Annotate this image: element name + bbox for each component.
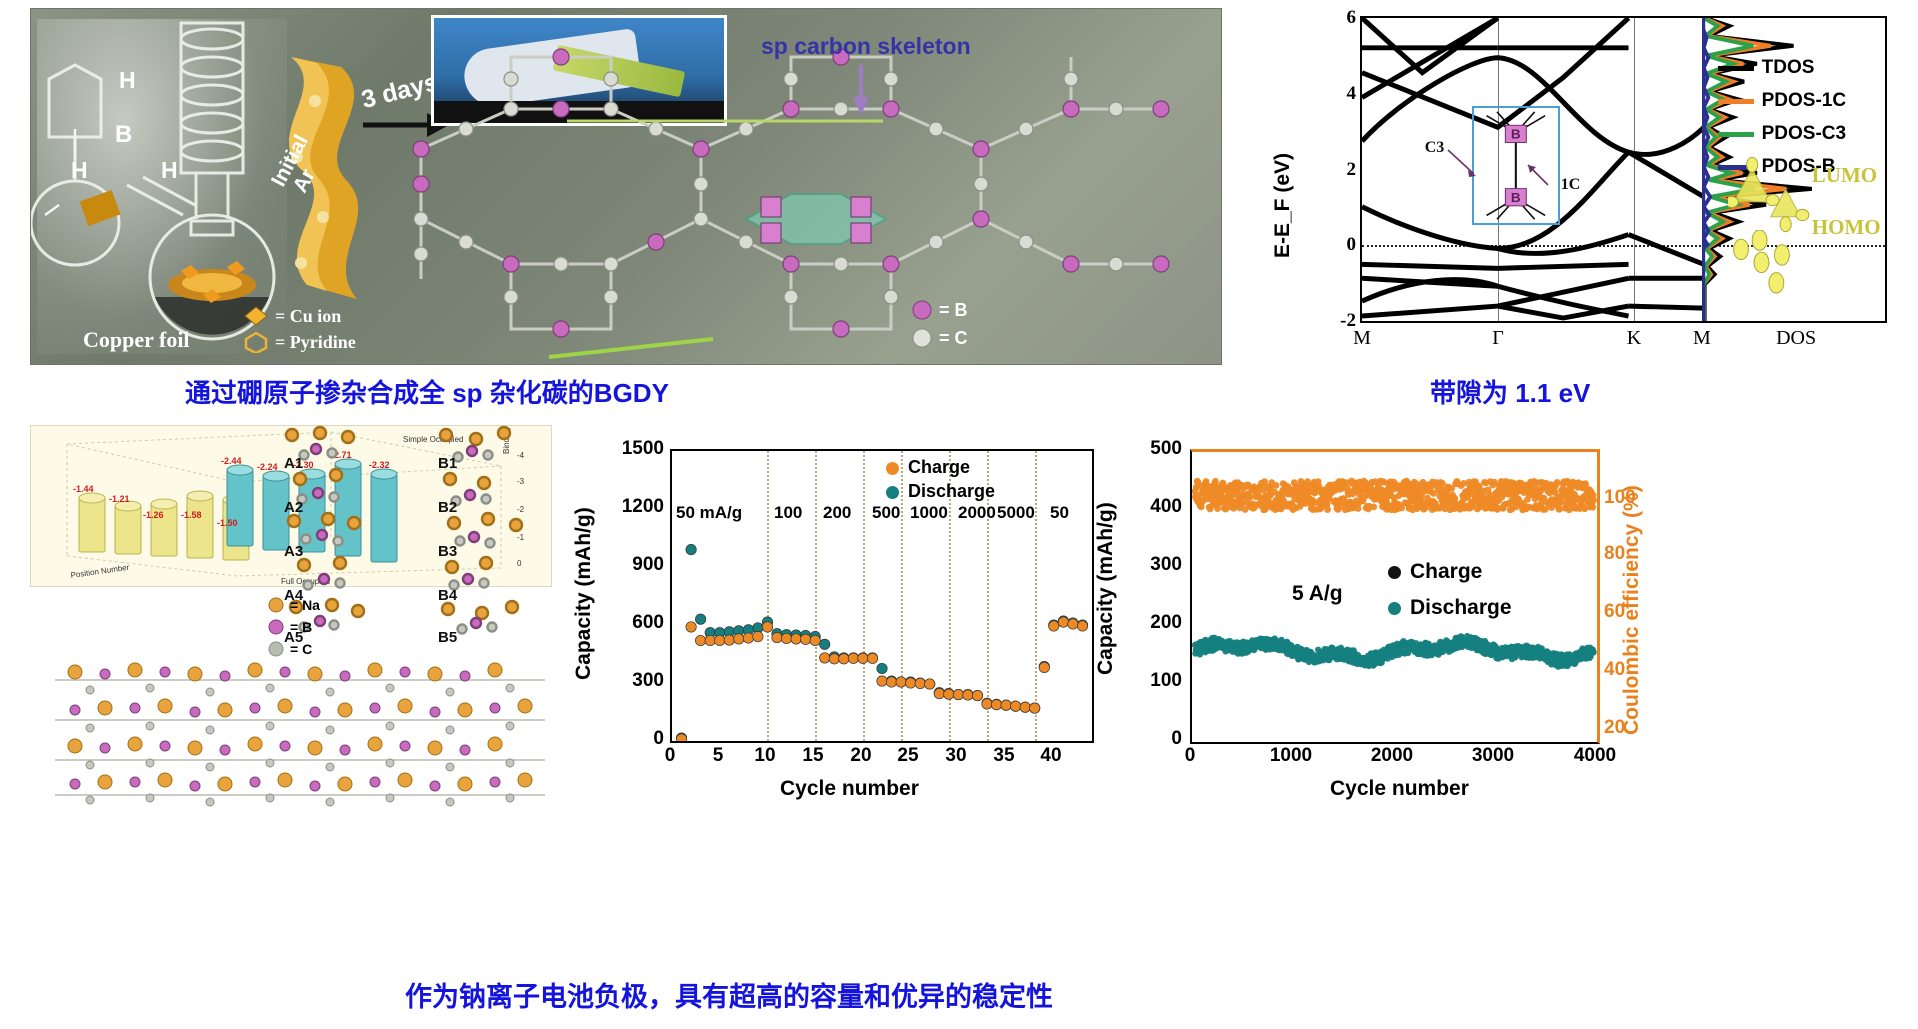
cu-ion-icon: [243, 305, 269, 327]
rate-xtick-40: 40: [1040, 745, 1061, 767]
svg-text:-1.21: -1.21: [109, 494, 130, 504]
caption-synthesis: 通过硼原子掺杂合成全 sp 杂化碳的BGDY: [185, 373, 669, 410]
rate-xtick-20: 20: [850, 745, 871, 767]
1c-arrow-icon: [1524, 163, 1566, 193]
structure-label-b4: B4: [438, 587, 457, 604]
cyc-xtick-1000: 1000: [1270, 745, 1312, 767]
band-structure-dos-panel: E-E_F (eV) 6 4 2 0 -2 M Γ K M DOS: [1245, 8, 1905, 363]
svg-text:B: B: [1511, 127, 1521, 141]
boron-atom-icon: [911, 299, 933, 321]
rate-ytick-300: 300: [604, 670, 664, 692]
cycling-stability-chart: Capacity (mAh/g) Coulombic efficiency (%…: [1080, 425, 1640, 815]
legend-swatch-pdos-c3: [1718, 132, 1754, 137]
b-legend-label: = B: [290, 619, 312, 635]
legend-swatch-tdos: [1718, 66, 1754, 71]
cyc-ytick-500: 500: [1122, 438, 1182, 460]
pyridine-icon: [243, 331, 269, 353]
atom-label-h2: H: [71, 157, 88, 184]
copper-foil-label: Copper foil: [83, 327, 190, 353]
band-ytick-2: 2: [1347, 159, 1357, 181]
cyc-xtick-3000: 3000: [1472, 745, 1514, 767]
c3-site-label: C3: [1425, 139, 1445, 157]
cyc-x-axis-title: Cycle number: [1330, 777, 1469, 801]
carbon-atom-icon: [911, 327, 933, 349]
sp-carbon-skeleton-label: sp carbon skeleton: [761, 33, 971, 60]
homo-orbital-icon: [1728, 230, 1812, 297]
dos-axis-label: DOS: [1776, 327, 1816, 350]
na-legend-label: = Na: [290, 597, 320, 613]
cyc-ytick-200: 200: [1122, 612, 1182, 634]
band-y-axis-title: E-E_F (eV): [1271, 153, 1295, 258]
cyc-xtick-0: 0: [1185, 745, 1196, 767]
boron-legend-label: = B: [939, 300, 968, 321]
sp-callout-line-icon: [561, 59, 891, 139]
cyc-ytick-300: 300: [1122, 554, 1182, 576]
kpoint-label-gamma: Γ: [1492, 327, 1504, 350]
cyc-y2tick-100: 100: [1604, 487, 1636, 509]
rate-capability-chart: Capacity (mAh/g) Cycle number 1500 1200 …: [560, 425, 1100, 815]
rate-ytick-1200: 1200: [604, 496, 664, 518]
cyc-xtick-2000: 2000: [1371, 745, 1413, 767]
svg-text:-1.44: -1.44: [73, 484, 94, 494]
cyc-ytick-400: 400: [1122, 496, 1182, 518]
c3-arrow-icon: [1446, 148, 1498, 184]
atom-label-b: B: [115, 121, 132, 149]
lumo-orbital-icon: [1728, 157, 1812, 236]
band-ytick-6: 6: [1347, 7, 1357, 29]
band-ytick-0: 0: [1347, 234, 1357, 256]
cyc-ytick-0: 0: [1122, 728, 1182, 750]
structure-label-a3: A3: [284, 543, 303, 560]
cyc-y2tick-20: 20: [1604, 717, 1625, 739]
cyc-y2tick-40: 40: [1604, 659, 1625, 681]
cyc-y2tick-80: 80: [1604, 543, 1625, 565]
caption-bandgap: 带隙为 1.1 eV: [1430, 373, 1590, 410]
legend-item-pdos-c3: PDOS-C3: [1718, 123, 1846, 145]
svg-text:-1.26: -1.26: [143, 510, 164, 520]
legend-item-pdos-1c: PDOS-1C: [1718, 90, 1846, 112]
pyridine-legend-label: = Pyridine: [275, 332, 356, 353]
cyc-y2tick-60: 60: [1604, 601, 1625, 623]
structure-label-b5: B5: [438, 629, 457, 646]
rate-data-points: [672, 451, 1092, 741]
svg-text:Position Number: Position Number: [70, 563, 130, 580]
svg-text:B: B: [1511, 190, 1521, 204]
kpoint-label-k: K: [1627, 327, 1641, 350]
boron-atom-icon-2: [268, 619, 284, 635]
synthesis-scheme-panel: H B H H Initial Ar 3 days: [30, 8, 1222, 365]
rate-ytick-600: 600: [604, 612, 664, 634]
rate-xtick-5: 5: [713, 745, 724, 767]
rate-xtick-35: 35: [993, 745, 1014, 767]
homo-label: HOMO: [1812, 215, 1881, 240]
cyc-plot-area: 5 A/g Charge Discharge: [1190, 449, 1600, 744]
rate-ytick-0: 0: [604, 728, 664, 750]
band-ytick-4: 4: [1347, 83, 1357, 105]
svg-text:-2.44: -2.44: [221, 456, 242, 466]
structure-label-b2: B2: [438, 499, 457, 516]
atom-label-h1: H: [119, 67, 136, 94]
rate-xtick-0: 0: [665, 745, 676, 767]
rate-ytick-900: 900: [604, 554, 664, 576]
rate-x-axis-title: Cycle number: [780, 777, 919, 801]
cu-ion-legend-label: = Cu ion: [275, 306, 341, 327]
kpoint-label-m1: M: [1353, 327, 1371, 350]
rate-plot-area: 50 mA/g 100 200 500 1000 2000 5000 50 Ch…: [670, 449, 1094, 743]
structure-label-a1: A1: [284, 455, 303, 472]
na-atom-icon: [268, 597, 284, 613]
structure-label-b3: B3: [438, 543, 457, 560]
rate-xtick-25: 25: [897, 745, 918, 767]
legend-item-tdos: TDOS: [1718, 57, 1846, 79]
cyc-ytick-100: 100: [1122, 670, 1182, 692]
cyc-y-axis-title: Capacity (mAh/g): [1094, 502, 1118, 675]
band-plot-area: 6 4 2 0 -2 M Γ K M DOS: [1360, 16, 1887, 323]
cyc-data-points: [1192, 452, 1597, 742]
sodiated-sheet-model: [35, 650, 565, 815]
kpoint-label-m2: M: [1693, 327, 1711, 350]
rate-xtick-15: 15: [802, 745, 823, 767]
rate-xtick-30: 30: [945, 745, 966, 767]
legend-swatch-pdos-1c: [1718, 99, 1754, 104]
cyc-xtick-4000: 4000: [1574, 745, 1616, 767]
svg-text:-1.58: -1.58: [181, 510, 202, 520]
structure-label-a2: A2: [284, 499, 303, 516]
rate-y-axis-title: Capacity (mAh/g): [572, 507, 596, 680]
atom-label-h3: H: [161, 157, 178, 184]
structure-label-b1: B1: [438, 455, 457, 472]
svg-text:-1.50: -1.50: [217, 518, 238, 528]
carbon-legend-label: = C: [939, 328, 968, 349]
rate-ytick-1500: 1500: [604, 438, 664, 460]
lumo-label: LUMO: [1812, 163, 1877, 188]
caption-anode-performance: 作为钠离子电池负极，具有超高的容量和优异的稳定性: [405, 975, 1053, 1014]
rate-xtick-10: 10: [754, 745, 775, 767]
